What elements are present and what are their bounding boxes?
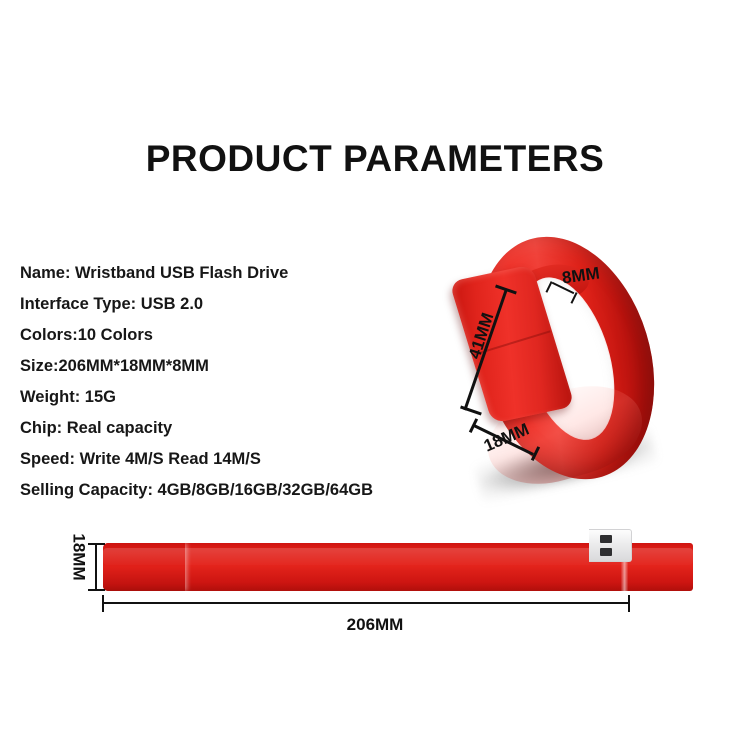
- specification-list: Name: Wristband USB Flash Drive Interfac…: [20, 258, 420, 506]
- spec-row-size: Size:206MM*18MM*8MM: [20, 351, 420, 382]
- strip-length-dimension-line: [103, 602, 630, 604]
- spec-row-chip: Chip: Real capacity: [20, 413, 420, 444]
- spec-row-speed: Speed: Write 4M/S Read 14M/S: [20, 444, 420, 475]
- strip-width-dimension-tick-bottom: [88, 589, 105, 591]
- strip-length-dimension-tick-right: [628, 595, 630, 612]
- strip-width-dimension-label: 18MM: [69, 533, 89, 580]
- wristband-strip-section: 18MM 206MM: [0, 520, 750, 650]
- product-parameters-page: PRODUCT PARAMETERS Name: Wristband USB F…: [0, 0, 750, 750]
- strip-length-dimension-tick-left: [102, 595, 104, 612]
- spec-row-weight: Weight: 15G: [20, 382, 420, 413]
- page-title: PRODUCT PARAMETERS: [0, 138, 750, 180]
- usb-a-connector: [589, 529, 632, 562]
- wristband-bracelet-photo: [452, 216, 680, 506]
- spec-row-name: Name: Wristband USB Flash Drive: [20, 258, 420, 289]
- strip-length-dimension-label: 206MM: [0, 615, 750, 635]
- usb-contact-pad-bottom: [600, 548, 612, 556]
- strip-width-dimension-line: [95, 544, 97, 590]
- spec-row-interface-type: Interface Type: USB 2.0: [20, 289, 420, 320]
- strip-width-dimension-tick-top: [88, 543, 105, 545]
- spec-row-colors: Colors:10 Colors: [20, 320, 420, 351]
- spec-row-selling-capacity: Selling Capacity: 4GB/8GB/16GB/32GB/64GB: [20, 475, 420, 506]
- usb-contact-pad-top: [600, 535, 612, 543]
